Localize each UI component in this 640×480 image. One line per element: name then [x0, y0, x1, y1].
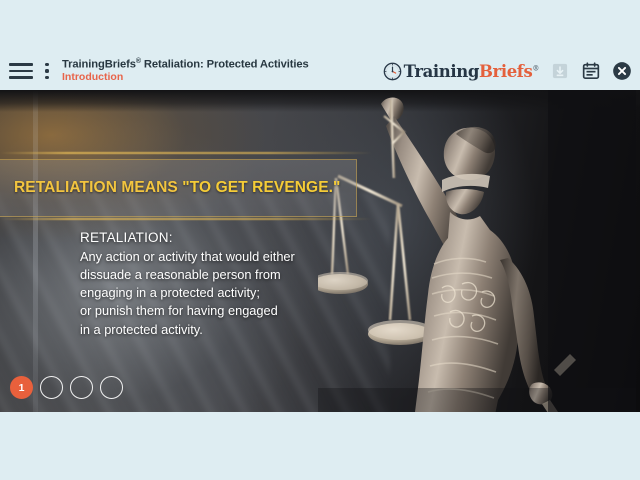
header-title-block: TrainingBriefs® Retaliation: Protected A… — [62, 58, 309, 84]
definition-block: RETALIATION: Any action or activity that… — [80, 230, 340, 339]
pagination-dot-4[interactable]: 4 — [100, 376, 123, 399]
definition-line: in a protected activity. — [80, 321, 340, 339]
headline-lead: RETALIATION MEANS — [14, 179, 182, 196]
kebab-dot — [45, 76, 48, 79]
brand-word-training: Training — [404, 62, 479, 81]
definition-body: Any action or activity that would either… — [80, 248, 340, 339]
trainingbriefs-logo: TrainingBriefs® — [383, 62, 539, 81]
banner-accent-line-bottom — [0, 218, 372, 220]
kebab-dot — [45, 63, 48, 66]
slide-content-area: RETALIATION MEANS "TO GET REVENGE." RETA… — [0, 90, 640, 412]
kebab-menu-icon[interactable] — [42, 60, 52, 82]
definition-line: dissuade a reasonable person from — [80, 266, 340, 284]
hamburger-bar — [9, 63, 33, 66]
course-player-frame: TrainingBriefs® Retaliation: Protected A… — [0, 0, 640, 480]
pagination-dot-2[interactable]: 2 — [40, 376, 63, 399]
brand-wordmark: TrainingBriefs® — [404, 62, 539, 81]
hamburger-bar — [9, 76, 33, 79]
definition-line: or punish them for having engaged — [80, 302, 340, 320]
banner-accent-line-top — [0, 152, 372, 154]
brand-word-briefs: Briefs — [479, 62, 532, 81]
clock-icon — [383, 62, 402, 81]
section-subtitle: Introduction — [62, 72, 309, 84]
headline-quote: "TO GET REVENGE." — [182, 179, 340, 196]
definition-heading: RETALIATION: — [80, 230, 340, 245]
player-header: TrainingBriefs® Retaliation: Protected A… — [0, 0, 640, 90]
headline-banner: RETALIATION MEANS "TO GET REVENGE." — [0, 159, 357, 217]
close-icon[interactable] — [612, 61, 632, 81]
hamburger-bar — [9, 70, 33, 73]
page-title: TrainingBriefs® Retaliation: Protected A… — [62, 58, 309, 71]
definition-line: engaging in a protected activity; — [80, 284, 340, 302]
headline-banner-text: RETALIATION MEANS "TO GET REVENGE." — [14, 179, 341, 197]
definition-line: Any action or activity that would either — [80, 248, 340, 266]
header-actions: TrainingBriefs® — [383, 52, 632, 90]
brand-registered-mark: ® — [532, 63, 539, 72]
background-top-shadow — [0, 90, 640, 112]
pagination-dot-1[interactable]: 1 — [10, 376, 33, 399]
hamburger-icon[interactable] — [9, 61, 33, 81]
slide-pagination: 1 2 3 4 — [10, 376, 123, 399]
course-title-rest: Retaliation: Protected Activities — [141, 59, 309, 71]
header-content-row: TrainingBriefs® Retaliation: Protected A… — [0, 52, 640, 90]
notes-icon[interactable] — [581, 61, 601, 81]
course-title-brand: TrainingBriefs — [62, 59, 136, 71]
background-light-column — [33, 90, 38, 412]
kebab-dot — [45, 69, 48, 72]
download-icon — [550, 61, 570, 81]
pagination-dot-3[interactable]: 3 — [70, 376, 93, 399]
player-footer-area — [0, 412, 640, 480]
